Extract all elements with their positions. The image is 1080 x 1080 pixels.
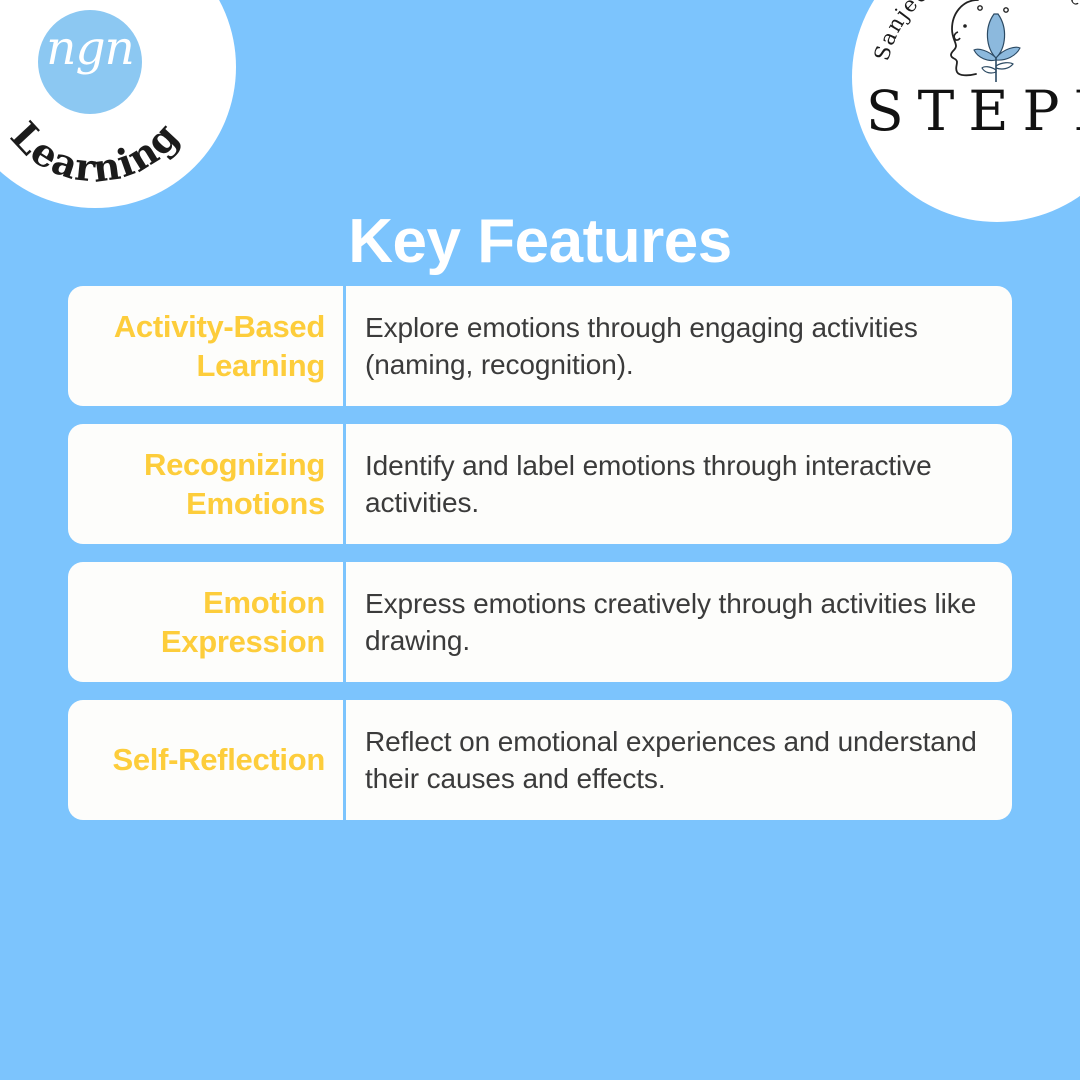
slide-canvas: ngn Learning <box>0 0 1080 1080</box>
feature-label: Emotion Expression <box>82 583 325 661</box>
ngn-arc-label: Learning <box>2 113 188 191</box>
feature-label-cell: Self-Reflection <box>68 700 343 820</box>
feature-label-cell: Recognizing Emotions <box>68 424 343 544</box>
feature-description-cell: Reflect on emotional experiences and und… <box>346 700 1012 820</box>
feature-row-self-reflection[interactable]: Self-Reflection Reflect on emotional exp… <box>68 700 1012 820</box>
page-title: Key Features <box>0 208 1080 276</box>
feature-description: Express emotions creatively through acti… <box>365 585 990 659</box>
feature-description-cell: Express emotions creatively through acti… <box>346 562 1012 682</box>
feature-label-cell: Activity-Based Learning <box>68 286 343 406</box>
feature-description: Identify and label emotions through inte… <box>365 447 990 521</box>
feature-description: Explore emotions through engaging activi… <box>365 309 990 383</box>
feature-label: Recognizing Emotions <box>82 445 325 523</box>
feature-label: Self-Reflection <box>112 740 325 779</box>
feature-row-emotion-expression[interactable]: Emotion Expression Express emotions crea… <box>68 562 1012 682</box>
stepl-arc-label: Sanjeev Tanna Education <box>870 0 1080 63</box>
feature-row-activity-based-learning[interactable]: Activity-Based Learning Explore emotions… <box>68 286 1012 406</box>
ngn-learning-logo: ngn Learning <box>0 0 236 208</box>
feature-description: Reflect on emotional experiences and und… <box>365 723 990 797</box>
feature-label: Activity-Based Learning <box>82 307 325 385</box>
feature-description-cell: Explore emotions through engaging activi… <box>346 286 1012 406</box>
stepl-logo: Sanjeev Tanna Education STEPL <box>852 0 1080 222</box>
feature-description-cell: Identify and label emotions through inte… <box>346 424 1012 544</box>
ngn-arc-svg: Learning <box>0 0 236 208</box>
feature-list: Activity-Based Learning Explore emotions… <box>68 286 1012 820</box>
stepl-wordmark: STEPL <box>852 84 1080 139</box>
ngn-logo-inner: ngn Learning <box>0 0 236 208</box>
feature-row-recognizing-emotions[interactable]: Recognizing Emotions Identify and label … <box>68 424 1012 544</box>
feature-label-cell: Emotion Expression <box>68 562 343 682</box>
